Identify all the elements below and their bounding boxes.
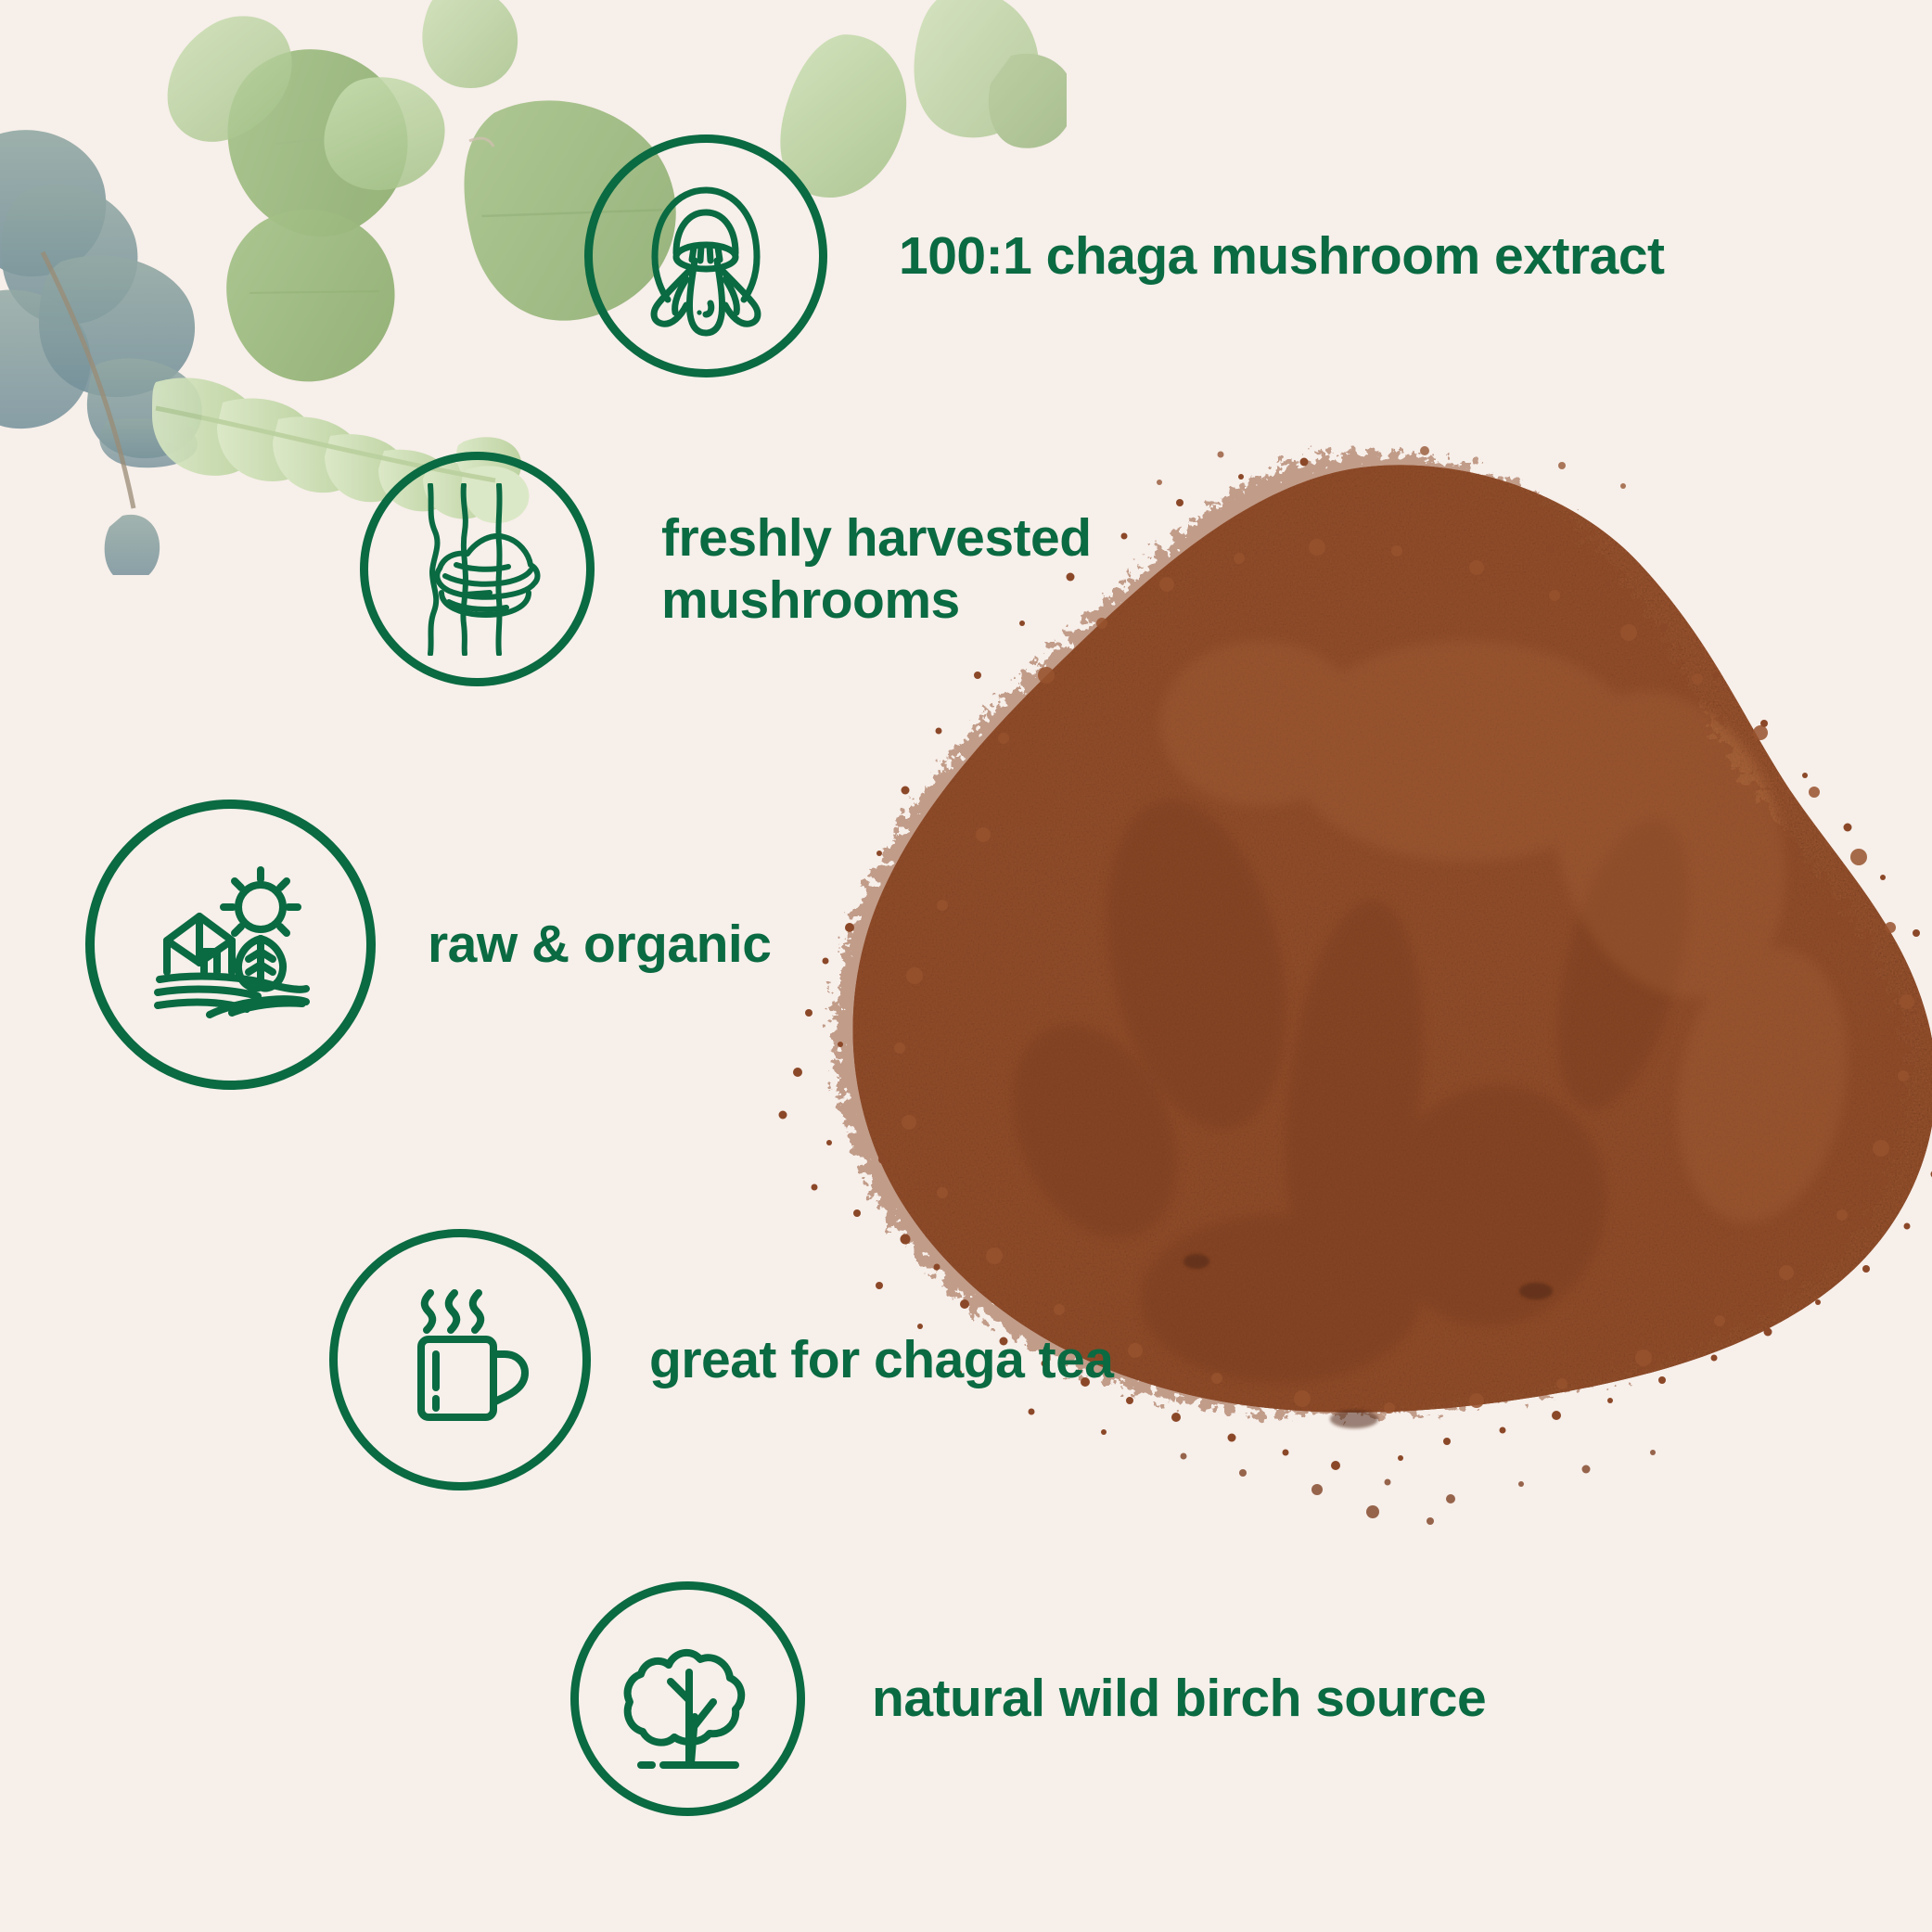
feature-row-chaga-extract: 100:1 chaga mushroom extract (584, 134, 1665, 377)
product-infographic: 100:1 chaga mushroom extract freshly har… (0, 0, 1932, 1932)
feature-row-chaga-tea: great for chaga tea (329, 1229, 1114, 1491)
steaming-mug-icon (329, 1229, 591, 1491)
feature-row-raw-organic: raw & organic (85, 800, 771, 1090)
birch-tree-icon (570, 1581, 805, 1816)
farm-sun-field-icon (85, 800, 376, 1090)
feature-label: natural wild birch source (872, 1668, 1486, 1729)
mushroom-cluster-icon (584, 134, 827, 377)
feature-label: freshly harvested mushrooms (661, 507, 1092, 630)
feature-label: 100:1 chaga mushroom extract (899, 225, 1665, 287)
feature-label: raw & organic (428, 914, 771, 975)
chaga-on-birch-trunk-icon (360, 452, 595, 686)
feature-row-freshly-harvested: freshly harvested mushrooms (360, 452, 1092, 686)
feature-label: great for chaga tea (649, 1329, 1114, 1390)
feature-row-birch-source: natural wild birch source (570, 1581, 1486, 1816)
